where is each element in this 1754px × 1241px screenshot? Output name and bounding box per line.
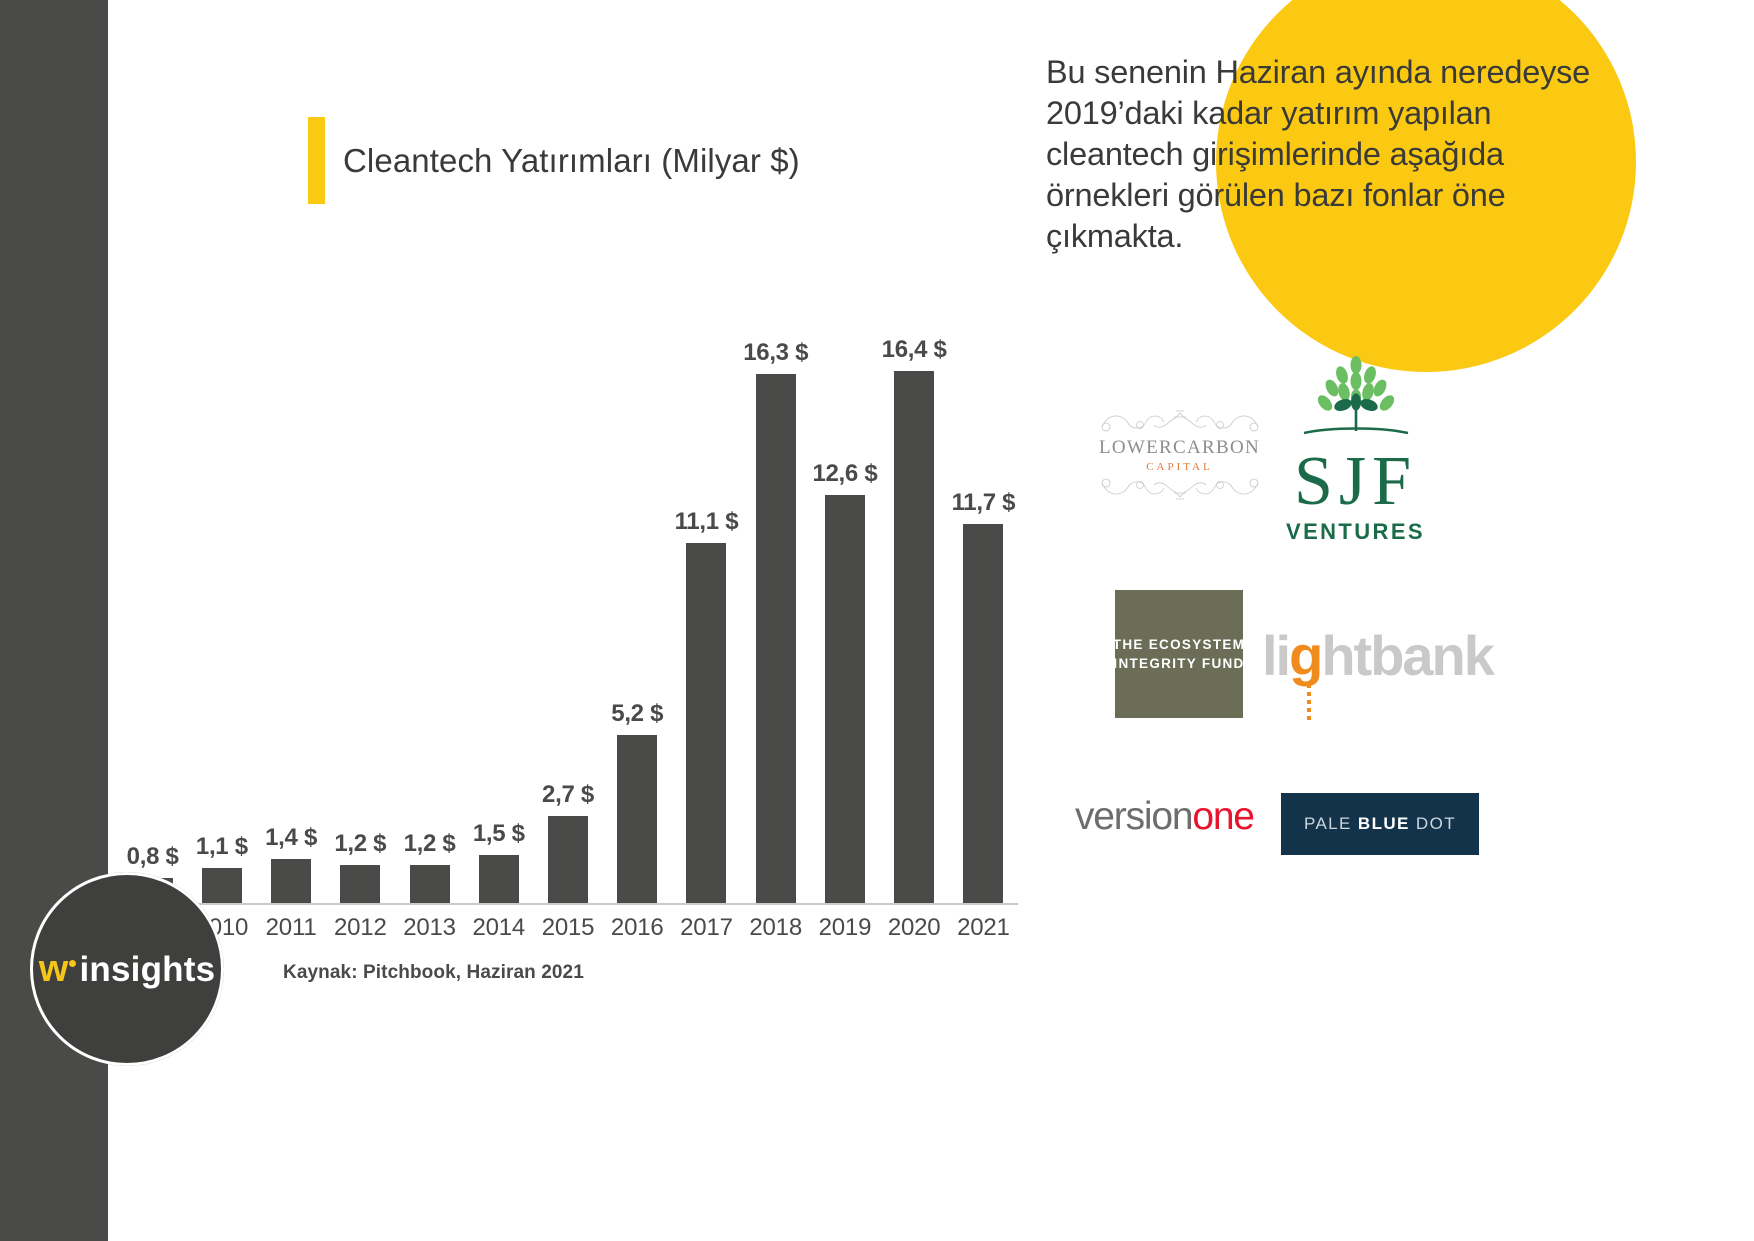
bar-rect [963,524,1003,904]
bar-value-label: 12,6 $ [812,460,877,488]
bar-value-label: 5,2 $ [611,700,663,728]
title-accent-bar [308,117,325,204]
x-axis-tick-label: 2020 [880,914,948,942]
bar-value-label: 11,1 $ [675,508,739,536]
bar-rect [894,371,934,904]
brand-logo: w insights [30,872,224,1066]
flourish-top-icon [1096,407,1264,437]
logo-lowercarbon-name: LOWERCARBON [1099,437,1260,459]
bar-slot: 1,1 $ [188,300,256,904]
logo-versionone-part1: version [1075,795,1192,838]
bar-value-label: 1,4 $ [265,824,317,852]
bar-value-label: 16,4 $ [882,336,947,364]
logo-versionone-text: versionone [1075,795,1265,839]
bar-value-label: 1,2 $ [404,830,456,858]
logo-versionone-part2: one [1192,795,1253,838]
logo-lightbank: lightbank [1262,628,1462,688]
bar-slot: 2,7 $ [534,300,602,904]
brand-logo-name: insights [79,950,215,990]
bar-slot: 16,3 $ [742,300,810,904]
x-axis-tick-label: 2015 [534,914,602,942]
bar-value-label: 11,7 $ [952,489,1016,517]
bar-rect [548,816,588,904]
x-axis-tick-label: 2016 [603,914,671,942]
x-axis-tick-label: 2021 [949,914,1017,942]
bar-slot: 5,2 $ [603,300,671,904]
logo-lightbank-g: g [1289,624,1321,687]
bar-slot: 12,6 $ [811,300,879,904]
chart-title: Cleantech Yatırımları (Milyar $) [343,142,800,180]
source-note: Kaynak: Pitchbook, Haziran 2021 [283,962,584,984]
logo-lowercarbon-capital: LOWERCARBON CAPITAL [1092,400,1267,510]
x-axis-tick-label: 2012 [326,914,394,942]
bar-slot: 1,5 $ [465,300,533,904]
bar-rect [340,865,380,904]
logo-pale-blue-dot: PALE BLUE DOT [1281,793,1479,855]
chart-x-axis-labels: 2009201020112012201320142015201620172018… [118,914,1018,954]
bar-rect [617,735,657,904]
x-axis-tick-label: 2019 [811,914,879,942]
bar-slot: 1,2 $ [326,300,394,904]
bar-value-label: 2,7 $ [542,781,594,809]
bar-value-label: 1,2 $ [334,830,386,858]
bar-slot: 11,1 $ [672,300,740,904]
bar-rect [756,374,796,904]
logo-pbd-part2: BLUE [1358,814,1410,833]
sapling-tree-icon [1296,355,1416,447]
flourish-bottom-icon [1096,473,1264,503]
logo-lightbank-part1: li [1262,624,1289,687]
bar-value-label: 1,1 $ [196,833,248,861]
bar-rect [202,868,242,904]
bar-rect [479,855,519,904]
logo-lightbank-text: lightbank [1262,628,1462,684]
logo-sjf-ventures: SJF VENTURES [1293,355,1418,545]
logo-eif-line2: INTEGRITY FUND [1113,654,1244,673]
bar-slot: 1,4 $ [257,300,325,904]
bar-value-label: 0,8 $ [127,843,179,871]
logo-sjf-sub: VENTURES [1286,519,1425,545]
bar-slot: 1,2 $ [396,300,464,904]
bar-value-label: 16,3 $ [743,339,808,367]
brand-dot-icon [69,960,76,967]
x-axis-tick-label: 2013 [396,914,464,942]
bar-slot: 0,8 $ [119,300,187,904]
logo-versionone: versionone [1075,795,1265,839]
logo-lightbank-part3: htbank [1321,624,1493,687]
cleantech-investment-bar-chart: 0,8 $1,1 $1,4 $1,2 $1,2 $1,5 $2,7 $5,2 $… [110,300,1025,960]
bar-rect [686,543,726,904]
brand-logo-text: w insights [39,948,216,991]
bar-slot: 16,4 $ [880,300,948,904]
logo-sjf-letters: SJF [1294,447,1417,517]
chart-x-axis-line [118,903,1018,905]
x-axis-tick-label: 2011 [257,914,325,942]
x-axis-tick-label: 2017 [672,914,740,942]
bar-rect [410,865,450,904]
bar-slot: 11,7 $ [949,300,1017,904]
headline-paragraph: Bu senenin Haziran ayında neredeyse 2019… [1046,52,1606,257]
logo-pbd-part3: DOT [1410,814,1456,833]
brand-logo-w: w [39,948,69,991]
logo-pale-blue-dot-text: PALE BLUE DOT [1304,814,1456,834]
chart-plot-area: 0,8 $1,1 $1,4 $1,2 $1,2 $1,5 $2,7 $5,2 $… [118,300,1019,904]
logo-lowercarbon-sub: CAPITAL [1146,461,1213,473]
x-axis-tick-label: 2014 [465,914,533,942]
logo-eif-line1: THE ECOSYSTEM [1113,635,1245,654]
logo-ecosystem-integrity-fund: THE ECOSYSTEM INTEGRITY FUND [1115,590,1243,718]
logo-pbd-part1: PALE [1304,814,1358,833]
bar-rect [825,495,865,905]
logo-lightbank-dotted-line-icon [1307,684,1311,722]
bar-rect [271,859,311,905]
bar-value-label: 1,5 $ [473,820,525,848]
x-axis-tick-label: 2018 [742,914,810,942]
